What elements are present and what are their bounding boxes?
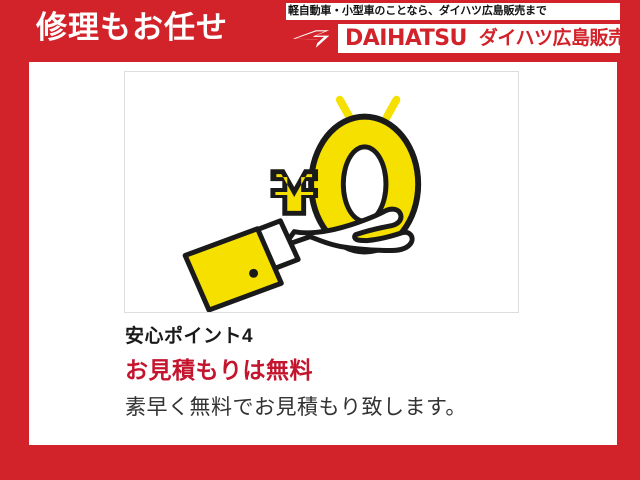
point-description: 素早く無料でお見積もり致します。 — [125, 392, 585, 424]
brand-dealer-name: ダイハツ広島販売 — [467, 24, 629, 53]
brand-wordmark: DAIHATSU — [338, 24, 467, 53]
copy-block: 安心ポイント4 お見積もりは無料 素早く無料でお見積もり致します。 — [125, 324, 585, 424]
yen-symbol-icon — [270, 169, 318, 216]
sleeve-button-icon — [249, 269, 258, 278]
banner-header: 修理もお任せ 軽自動車・小型車のことなら、ダイハツ広島販売まで DAIHATSU… — [0, 0, 640, 62]
daihatsu-d-mark-icon — [286, 24, 338, 53]
brand-tagline: 軽自動車・小型車のことなら、ダイハツ広島販売まで — [286, 3, 620, 20]
illustration-frame — [124, 71, 519, 313]
banner-headline: 修理もお任せ — [36, 8, 228, 48]
point-label: 安心ポイント4 — [125, 324, 585, 350]
open-hand-icon — [185, 209, 412, 310]
promo-banner: 修理もお任せ 軽自動車・小型車のことなら、ダイハツ広島販売まで DAIHATSU… — [0, 0, 640, 480]
content-panel: 安心ポイント4 お見積もりは無料 素早く無料でお見積もり致します。 — [29, 62, 617, 445]
brand-logo-row: DAIHATSU ダイハツ広島販売 — [286, 24, 620, 53]
brand-lockup: 軽自動車・小型車のことなら、ダイハツ広島販売まで DAIHATSU ダイハツ広島… — [286, 3, 620, 53]
hand-holding-yen-zero-illustration — [125, 72, 518, 312]
point-headline: お見積もりは無料 — [125, 353, 585, 387]
